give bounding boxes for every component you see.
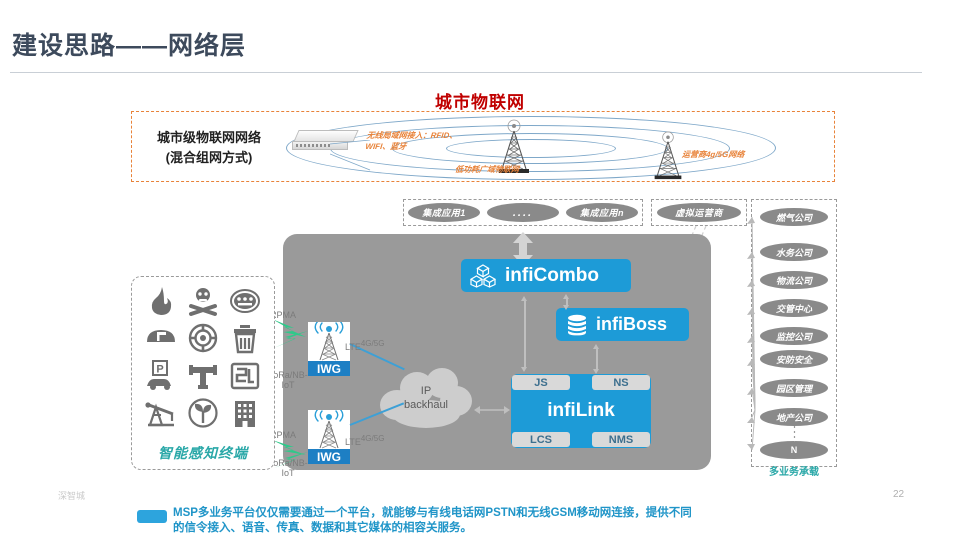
manhole-cover-sensor-icon bbox=[144, 322, 178, 354]
flame-sensor-icon bbox=[144, 285, 178, 317]
footer-note-line2: 的信令接入、语音、传真、数据和其它媒体的相容关服务。 bbox=[173, 521, 913, 536]
operator-pill-park[interactable]: 园区管理 bbox=[760, 379, 828, 397]
section-heading-city-iot: 城市物联网 bbox=[0, 88, 960, 113]
page-number: 22 bbox=[893, 489, 904, 500]
footer-bullet-chip bbox=[137, 510, 167, 523]
infiLink-chip-ns[interactable]: NS bbox=[592, 375, 650, 390]
operator-ellipsis-connector bbox=[793, 426, 796, 442]
cloud-line2: backhaul bbox=[378, 398, 474, 412]
smart-meter-icon bbox=[228, 285, 262, 317]
operator-pill-n[interactable]: N bbox=[760, 441, 828, 459]
operator-pill-traffic[interactable]: 交管中心 bbox=[760, 299, 828, 317]
operator-pill-realestate[interactable]: 地产公司 bbox=[760, 408, 828, 426]
water-valve-sensor-icon bbox=[186, 322, 220, 354]
combo-boss-arrow bbox=[563, 294, 570, 310]
note-wlan-access: 无线局域网接入：RFID、 WIFI、蓝牙 bbox=[365, 130, 458, 152]
footer-note: MSP多业务平台仅仅需要通过一个平台，就能够与有线电话网PSTN和无线GSM移动… bbox=[173, 506, 913, 536]
smart-building-icon bbox=[228, 397, 262, 429]
operator-pill-security[interactable]: 安防安全 bbox=[760, 350, 828, 368]
arrow-shaft bbox=[524, 301, 526, 367]
arrow-shaft bbox=[596, 349, 598, 369]
iwg-tower-icon bbox=[308, 410, 350, 450]
note-wlan-line2: WIFI、蓝牙 bbox=[365, 141, 457, 152]
smart-parking-icon: P bbox=[144, 360, 178, 392]
cubes-icon bbox=[470, 264, 496, 288]
title-divider bbox=[10, 72, 922, 73]
integrated-app-more-pill: .... bbox=[487, 203, 559, 222]
database-icon bbox=[566, 314, 588, 336]
iwg-label: IWG bbox=[308, 361, 350, 376]
streetlight-control-icon bbox=[228, 360, 262, 392]
arrow-head-down bbox=[521, 367, 527, 372]
note-carrier-network: 运营商4g/5G网络 bbox=[681, 149, 744, 160]
infilink-to-operators-fan bbox=[648, 205, 763, 455]
smart-sensor-terminals-label: 智能感知终端 bbox=[131, 443, 275, 463]
infiLink-label: infiLink bbox=[511, 400, 651, 422]
agriculture-sensor-icon bbox=[186, 397, 220, 429]
lora-bolt-1-icon bbox=[274, 330, 316, 354]
svg-text:P: P bbox=[156, 363, 163, 375]
operator-pill-logistics[interactable]: 物流公司 bbox=[760, 271, 828, 289]
watermark: 深智城 bbox=[58, 489, 85, 502]
operator-pill-gas[interactable]: 燃气公司 bbox=[760, 208, 828, 226]
footer-note-line1: MSP多业务平台仅仅需要通过一个平台，就能够与有线电话网PSTN和无线GSM移动… bbox=[173, 506, 913, 521]
lte-text-1: LTE bbox=[345, 342, 361, 352]
lte-label-1: LTE4G/5G bbox=[345, 339, 384, 352]
switch-ports bbox=[296, 144, 332, 147]
city-iot-network-label: 城市级物联网网络 (混合组网方式) bbox=[139, 128, 279, 168]
operator-pill-water[interactable]: 水务公司 bbox=[760, 243, 828, 261]
rate-text-2: 4G/5G bbox=[361, 434, 385, 443]
lte-text-2: LTE bbox=[345, 437, 361, 447]
combo-link-arrow bbox=[521, 296, 528, 372]
cloud-line1: IP bbox=[378, 384, 474, 398]
toxic-gas-sensor-icon bbox=[186, 285, 220, 317]
oil-pump-sensor-icon bbox=[144, 397, 178, 429]
pipeline-sensor-icon bbox=[186, 360, 220, 392]
page-title: 建设思路——网络层 bbox=[12, 26, 246, 62]
infiCombo-label: infiCombo bbox=[505, 265, 599, 287]
arrow-head-down bbox=[593, 369, 599, 374]
smart-trash-bin-icon bbox=[228, 322, 262, 354]
ip-backhaul-cloud: IP backhaul bbox=[378, 366, 474, 432]
infiLink-chip-lcs[interactable]: LCS bbox=[512, 432, 570, 447]
cloud-infilink-arrow bbox=[474, 404, 510, 416]
multi-service-operators-label: 多业务承载 bbox=[751, 463, 837, 478]
network-label-line2: (混合组网方式) bbox=[139, 148, 279, 168]
infiLink-chip-js[interactable]: JS bbox=[512, 375, 570, 390]
lora-label-2-line2: IoT bbox=[266, 468, 310, 478]
infiLink-chip-nms[interactable]: NMS bbox=[592, 432, 650, 447]
arrow-head-down bbox=[563, 305, 569, 310]
integrated-app-1-pill[interactable]: 集成应用1 bbox=[408, 203, 480, 222]
integrated-app-n-pill[interactable]: 集成应用n bbox=[566, 203, 638, 222]
rate-text-1: 4G/5G bbox=[361, 339, 385, 348]
lte-label-2: LTE4G/5G bbox=[345, 434, 384, 447]
network-label-line1: 城市级物联网网络 bbox=[139, 128, 279, 148]
boss-link-arrow bbox=[593, 344, 600, 374]
note-lpwa-network: 低功耗广域物联网 bbox=[454, 164, 519, 175]
smart-sensor-icon-grid: P bbox=[140, 282, 266, 432]
note-wlan-line1: 无线局域网接入：RFID、 bbox=[366, 130, 458, 141]
operator-pill-surveillance[interactable]: 监控公司 bbox=[760, 327, 828, 345]
